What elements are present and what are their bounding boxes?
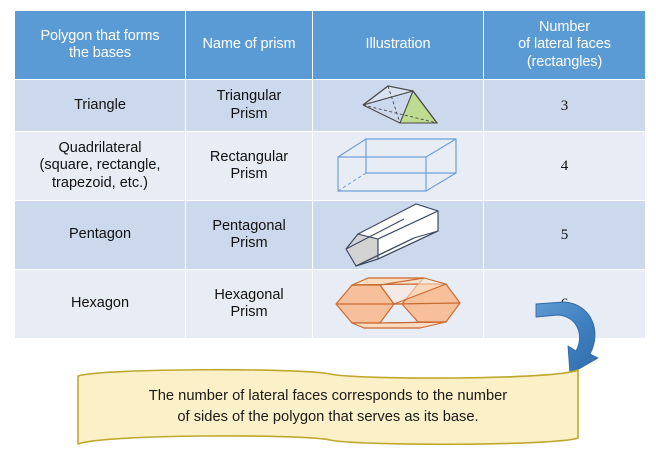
table-body: Triangle Triangular Prism xyxy=(15,80,645,338)
note-text: The number of lateral faces corresponds … xyxy=(74,386,582,429)
cell-prism-name: Triangular Prism xyxy=(186,80,312,131)
column-header-polygon: Polygon that forms the bases xyxy=(15,11,185,79)
table-header-row: Polygon that forms the bases Name of pri… xyxy=(15,11,645,79)
cell-polygon: Quadrilateral (square, rectangle, trapez… xyxy=(15,132,185,200)
cell-lateral-faces: 3 xyxy=(484,80,645,131)
cell-illustration xyxy=(313,201,483,269)
hexagonal-prism-illustration xyxy=(313,275,483,333)
column-header-prism-name: Name of prism xyxy=(186,11,312,79)
table-row: Hexagon Hexagonal Prism xyxy=(15,270,645,338)
cell-polygon: Triangle xyxy=(15,80,185,131)
cell-lateral-faces: 6 xyxy=(484,270,645,338)
cell-illustration xyxy=(313,270,483,338)
cell-lateral-faces: 5 xyxy=(484,201,645,269)
cell-prism-name: Pentagonal Prism xyxy=(186,201,312,269)
cell-polygon: Hexagon xyxy=(15,270,185,338)
cell-illustration xyxy=(313,80,483,131)
pentagonal-prism-illustration xyxy=(313,201,483,269)
cell-illustration xyxy=(313,132,483,200)
triangular-prism-illustration xyxy=(313,83,483,129)
cell-polygon: Pentagon xyxy=(15,201,185,269)
table-row: Quadrilateral (square, rectangle, trapez… xyxy=(15,132,645,200)
prism-properties-table: Polygon that forms the bases Name of pri… xyxy=(14,10,646,339)
cell-prism-name: Rectangular Prism xyxy=(186,132,312,200)
note-banner: The number of lateral faces corresponds … xyxy=(74,364,582,450)
cell-prism-name: Hexagonal Prism xyxy=(186,270,312,338)
column-header-illustration: Illustration xyxy=(313,11,483,79)
rectangular-prism-illustration xyxy=(313,135,483,197)
cell-lateral-faces: 4 xyxy=(484,132,645,200)
column-header-lateral-faces: Number of lateral faces (rectangles) xyxy=(484,11,645,79)
table-header: Polygon that forms the bases Name of pri… xyxy=(15,11,645,79)
slide-canvas: Polygon that forms the bases Name of pri… xyxy=(0,0,656,461)
table-row: Triangle Triangular Prism xyxy=(15,80,645,131)
table-row: Pentagon Pentagonal Prism xyxy=(15,201,645,269)
